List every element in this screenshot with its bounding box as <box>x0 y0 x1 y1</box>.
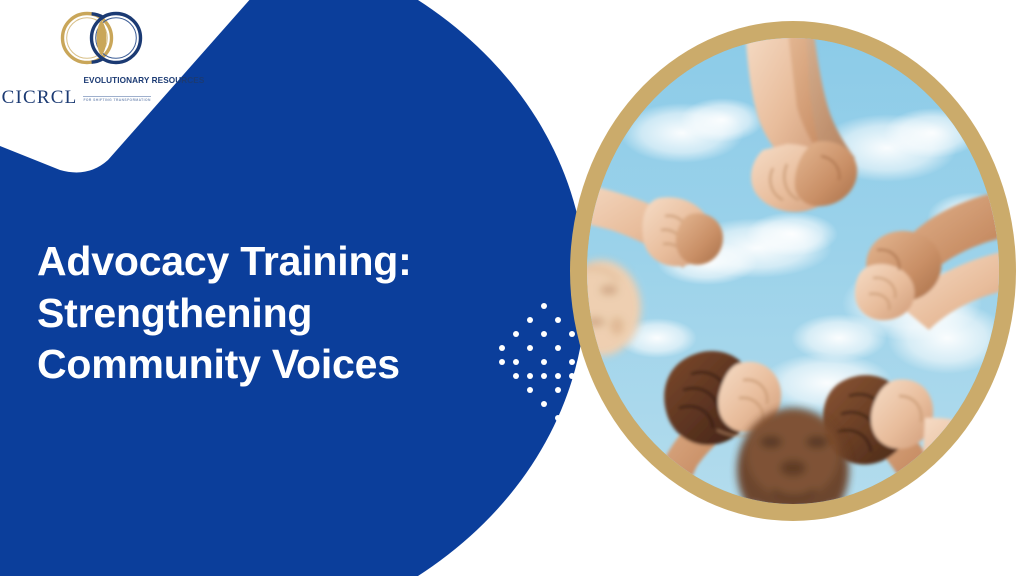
circle-frame-icon <box>570 21 1016 521</box>
logo-wordmark: CICRCL EVOLUTIONARY RESOURCES FOR SHIFTI… <box>6 70 196 107</box>
page-title-line-3: Community Voices <box>37 339 477 391</box>
banner-slide: CICRCL EVOLUTIONARY RESOURCES FOR SHIFTI… <box>0 0 1024 576</box>
logo-name: CICRCL <box>2 88 78 107</box>
interlocking-rings-icon <box>42 8 160 68</box>
page-title-line-1: Advocacy Training: <box>37 236 477 288</box>
page-title: Advocacy Training: Strengthening Communi… <box>37 236 477 391</box>
page-title-line-2: Strengthening <box>37 288 477 340</box>
logo-tagline: EVOLUTIONARY RESOURCES <box>83 76 204 85</box>
hero-photo <box>587 38 999 504</box>
logo-subtagline: FOR SHIFTING TRANSFORMATION <box>83 96 150 102</box>
brand-logo[interactable]: CICRCL EVOLUTIONARY RESOURCES FOR SHIFTI… <box>6 8 196 107</box>
